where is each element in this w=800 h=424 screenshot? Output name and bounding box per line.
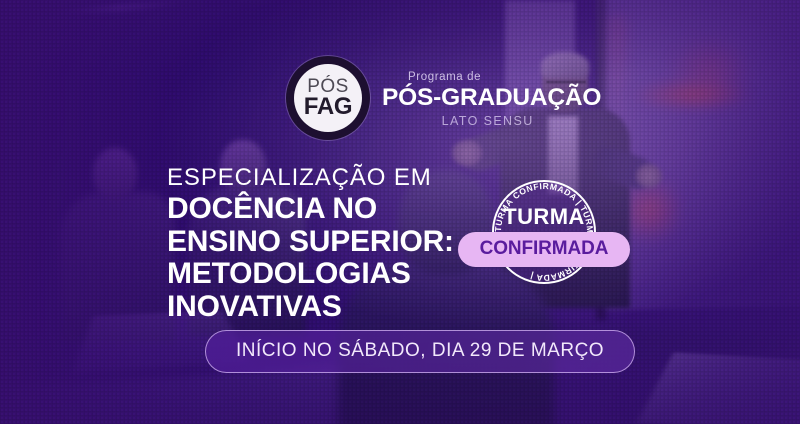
logo-text-fag: FAG	[304, 96, 352, 118]
banner-content: PÓS FAG Programa de PÓS-GRADUAÇÃO LATO S…	[0, 0, 800, 424]
programme-subtitle: LATO SENSU	[382, 114, 593, 128]
headline-line-2: ENSINO SUPERIOR:	[167, 226, 454, 258]
header-lockup: PÓS FAG Programa de PÓS-GRADUAÇÃO LATO S…	[286, 56, 601, 140]
stamp-top-label: TURMA	[492, 204, 596, 230]
headline-line-3: METODOLOGIAS	[167, 258, 454, 290]
headline-line-1: DOCÊNCIA NO	[167, 193, 454, 225]
headline-main: DOCÊNCIA NO ENSINO SUPERIOR: METODOLOGIA…	[167, 193, 454, 323]
programme-lockup-text: Programa de PÓS-GRADUAÇÃO LATO SENSU	[382, 69, 601, 128]
start-date-label: INÍCIO NO SÁBADO, DIA 29 DE MARÇO	[236, 340, 604, 361]
course-promo-banner: PÓS FAG Programa de PÓS-GRADUAÇÃO LATO S…	[0, 0, 800, 424]
stamp-confirmada-pill: CONFIRMADA	[458, 232, 630, 267]
headline-line-4: INOVATIVAS	[167, 291, 454, 323]
headline-block: ESPECIALIZAÇÃO EM DOCÊNCIA NO ENSINO SUP…	[167, 166, 454, 323]
turma-confirmada-stamp: TURMA CONFIRMADA | TURMA CONFIRMADA | TU…	[492, 180, 596, 284]
pos-fag-logo-icon: PÓS FAG	[286, 56, 370, 140]
headline-kicker: ESPECIALIZAÇÃO EM	[167, 166, 454, 190]
programme-title: PÓS-GRADUAÇÃO	[382, 84, 601, 112]
logo-inner-disc: PÓS FAG	[294, 64, 362, 132]
stamp-pill-label: CONFIRMADA	[480, 238, 609, 259]
start-date-banner: INÍCIO NO SÁBADO, DIA 29 DE MARÇO	[205, 330, 635, 373]
programme-kicker: Programa de	[408, 71, 601, 83]
